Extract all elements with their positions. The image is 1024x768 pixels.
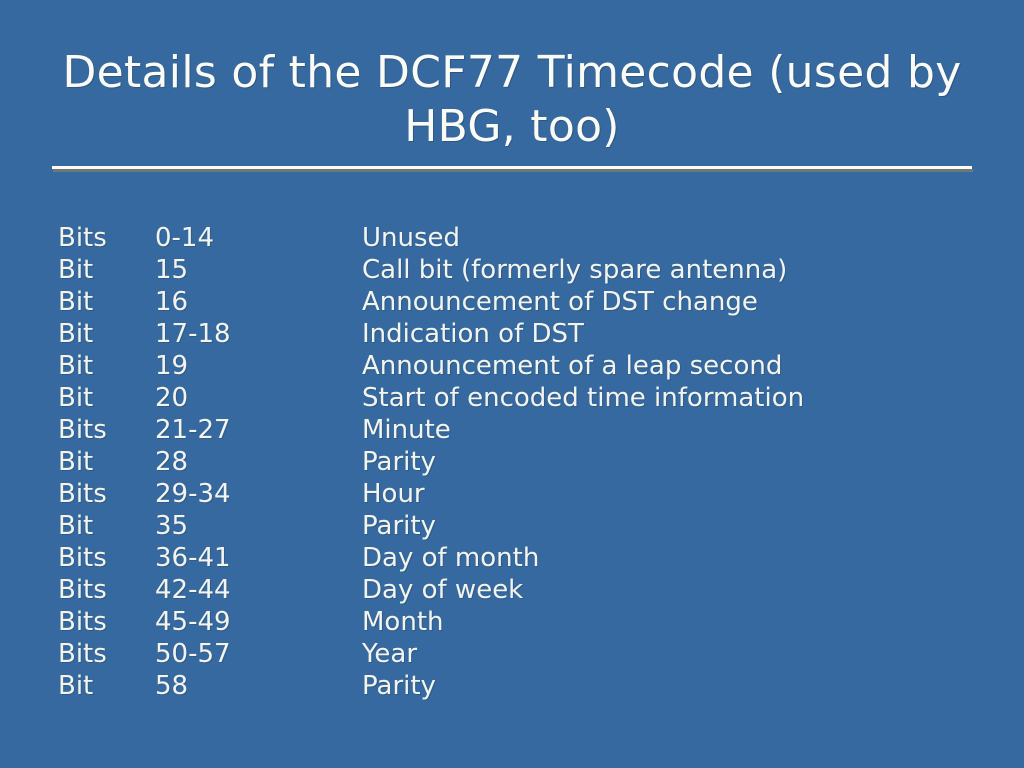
- table-row: Bit16Announcement of DST change: [58, 286, 988, 318]
- cell-description: Parity: [362, 510, 988, 542]
- cell-description: Parity: [362, 446, 988, 478]
- cell-bit-range: 36-41: [155, 542, 362, 574]
- bit-assignment-table: Bits0-14UnusedBit15Call bit (formerly sp…: [58, 222, 988, 702]
- cell-description: Year: [362, 638, 988, 670]
- cell-description: Announcement of DST change: [362, 286, 988, 318]
- cell-bit-kind: Bit: [58, 446, 155, 478]
- cell-description: Day of month: [362, 542, 988, 574]
- cell-bit-range: 45-49: [155, 606, 362, 638]
- cell-bit-range: 20: [155, 382, 362, 414]
- cell-bit-range: 42-44: [155, 574, 362, 606]
- table-row: Bit20Start of encoded time information: [58, 382, 988, 414]
- table-row: Bit35Parity: [58, 510, 988, 542]
- cell-bit-kind: Bits: [58, 606, 155, 638]
- cell-bit-range: 19: [155, 350, 362, 382]
- table-row: Bits29-34Hour: [58, 478, 988, 510]
- cell-bit-range: 16: [155, 286, 362, 318]
- cell-bit-range: 15: [155, 254, 362, 286]
- cell-bit-kind: Bits: [58, 574, 155, 606]
- table-row: Bit58Parity: [58, 670, 988, 702]
- cell-bit-range: 35: [155, 510, 362, 542]
- cell-bit-kind: Bit: [58, 510, 155, 542]
- cell-bit-kind: Bits: [58, 478, 155, 510]
- table-row: Bits21-27Minute: [58, 414, 988, 446]
- cell-bit-kind: Bits: [58, 542, 155, 574]
- cell-description: Parity: [362, 670, 988, 702]
- table-row: Bits50-57Year: [58, 638, 988, 670]
- divider-shadow: [53, 169, 973, 172]
- cell-description: Day of week: [362, 574, 988, 606]
- table-row: Bit15Call bit (formerly spare antenna): [58, 254, 988, 286]
- title-divider: [52, 166, 972, 170]
- cell-bit-kind: Bit: [58, 318, 155, 350]
- cell-description: Month: [362, 606, 988, 638]
- cell-bit-range: 29-34: [155, 478, 362, 510]
- cell-bit-kind: Bits: [58, 222, 155, 254]
- cell-bit-kind: Bits: [58, 638, 155, 670]
- cell-bit-kind: Bit: [58, 670, 155, 702]
- page-title: Details of the DCF77 Timecode (used by H…: [52, 46, 972, 154]
- cell-bit-range: 50-57: [155, 638, 362, 670]
- table-row: Bits36-41Day of month: [58, 542, 988, 574]
- cell-bit-kind: Bit: [58, 286, 155, 318]
- cell-bit-range: 28: [155, 446, 362, 478]
- cell-bit-kind: Bit: [58, 254, 155, 286]
- cell-description: Indication of DST: [362, 318, 988, 350]
- cell-description: Hour: [362, 478, 988, 510]
- table-row: Bits42-44Day of week: [58, 574, 988, 606]
- table-row: Bits45-49Month: [58, 606, 988, 638]
- slide: Details of the DCF77 Timecode (used by H…: [0, 0, 1024, 768]
- table-body: Bits0-14UnusedBit15Call bit (formerly sp…: [58, 222, 988, 702]
- cell-bit-kind: Bit: [58, 382, 155, 414]
- cell-description: Call bit (formerly spare antenna): [362, 254, 988, 286]
- table-row: Bit19Announcement of a leap second: [58, 350, 988, 382]
- title-block: Details of the DCF77 Timecode (used by H…: [52, 46, 972, 154]
- cell-description: Announcement of a leap second: [362, 350, 988, 382]
- table-row: Bit17-18Indication of DST: [58, 318, 988, 350]
- cell-bit-kind: Bits: [58, 414, 155, 446]
- cell-description: Minute: [362, 414, 988, 446]
- cell-bit-range: 21-27: [155, 414, 362, 446]
- table-row: Bit28Parity: [58, 446, 988, 478]
- cell-bit-range: 17-18: [155, 318, 362, 350]
- table-row: Bits0-14Unused: [58, 222, 988, 254]
- cell-bit-kind: Bit: [58, 350, 155, 382]
- cell-description: Start of encoded time information: [362, 382, 988, 414]
- cell-description: Unused: [362, 222, 988, 254]
- cell-bit-range: 58: [155, 670, 362, 702]
- cell-bit-range: 0-14: [155, 222, 362, 254]
